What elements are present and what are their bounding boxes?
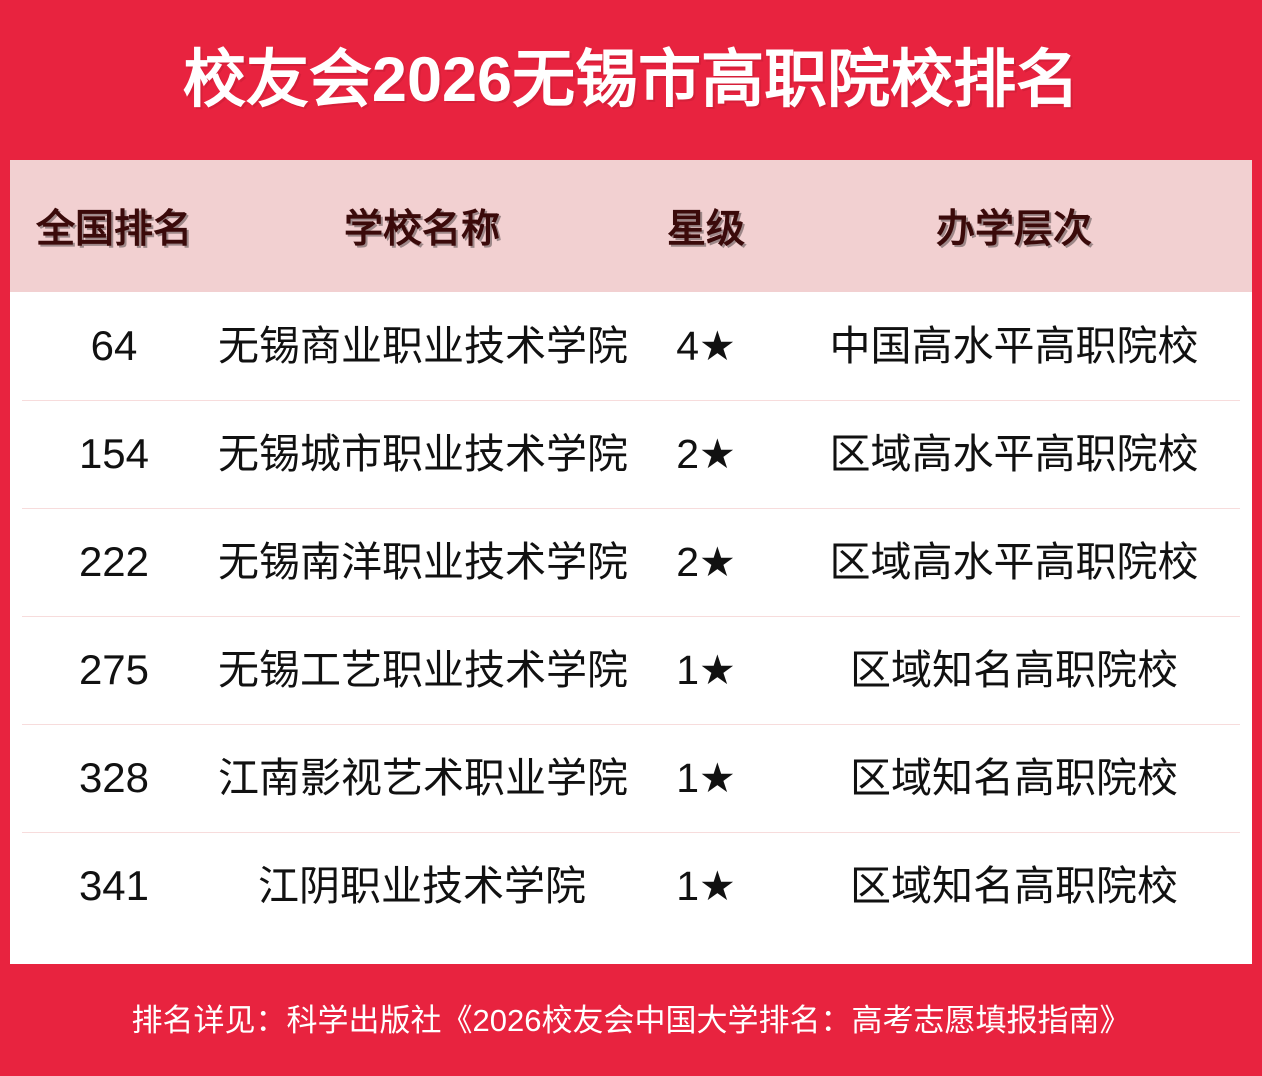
table-row: 154 无锡城市职业技术学院 2★ 区域高水平高职院校 (10, 400, 1252, 508)
table-row: 64 无锡商业职业技术学院 4★ 中国高水平高职院校 (10, 292, 1252, 400)
cell-star: 2★ (626, 434, 786, 475)
cell-level: 区域高水平高职院校 (786, 434, 1242, 475)
cell-star: 2★ (626, 542, 786, 583)
column-header-level: 办学层次 (786, 198, 1242, 254)
cell-star: 1★ (626, 866, 786, 907)
cell-rank: 328 (10, 757, 218, 799)
cell-star: 4★ (626, 326, 786, 367)
table-row: 222 无锡南洋职业技术学院 2★ 区域高水平高职院校 (10, 508, 1252, 616)
table-row: 341 江阴职业技术学院 1★ 区域知名高职院校 (10, 832, 1252, 940)
cell-level: 区域高水平高职院校 (786, 542, 1242, 583)
cell-rank: 341 (10, 865, 218, 907)
cell-level: 区域知名高职院校 (786, 758, 1242, 799)
cell-name: 江南影视艺术职业学院 (218, 758, 626, 799)
cell-name: 无锡城市职业技术学院 (218, 434, 626, 475)
cell-star: 1★ (626, 758, 786, 799)
page-title: 校友会2026无锡市高职院校排名 (183, 49, 1079, 112)
title-banner: 校友会2026无锡市高职院校排名 (0, 0, 1262, 160)
cell-rank: 64 (10, 325, 218, 367)
cell-level: 中国高水平高职院校 (786, 326, 1242, 367)
cell-level: 区域知名高职院校 (786, 866, 1242, 907)
cell-rank: 222 (10, 541, 218, 583)
cell-rank: 275 (10, 649, 218, 691)
table-body: 64 无锡商业职业技术学院 4★ 中国高水平高职院校 154 无锡城市职业技术学… (10, 292, 1252, 940)
column-header-name: 学校名称 (218, 198, 626, 254)
cell-name: 无锡工艺职业技术学院 (218, 650, 626, 691)
cell-star: 1★ (626, 650, 786, 691)
table-header-row: 全国排名 学校名称 星级 办学层次 (10, 160, 1252, 292)
footer-banner: 排名详见：科学出版社《2026校友会中国大学排名：高考志愿填报指南》 (0, 964, 1262, 1076)
cell-name: 无锡南洋职业技术学院 (218, 542, 626, 583)
ranking-table: 全国排名 学校名称 星级 办学层次 64 无锡商业职业技术学院 4★ 中国高水平… (10, 160, 1252, 964)
table-row: 328 江南影视艺术职业学院 1★ 区域知名高职院校 (10, 724, 1252, 832)
cell-name: 江阴职业技术学院 (218, 866, 626, 907)
cell-level: 区域知名高职院校 (786, 650, 1242, 691)
footer-note: 排名详见：科学出版社《2026校友会中国大学排名：高考志愿填报指南》 (132, 1005, 1131, 1036)
ranking-infographic: 校友会2026无锡市高职院校排名 全国排名 学校名称 星级 办学层次 64 无锡… (0, 0, 1262, 1076)
table-row: 275 无锡工艺职业技术学院 1★ 区域知名高职院校 (10, 616, 1252, 724)
cell-rank: 154 (10, 433, 218, 475)
column-header-star: 星级 (626, 198, 786, 254)
column-header-rank: 全国排名 (10, 198, 218, 254)
cell-name: 无锡商业职业技术学院 (218, 326, 626, 367)
